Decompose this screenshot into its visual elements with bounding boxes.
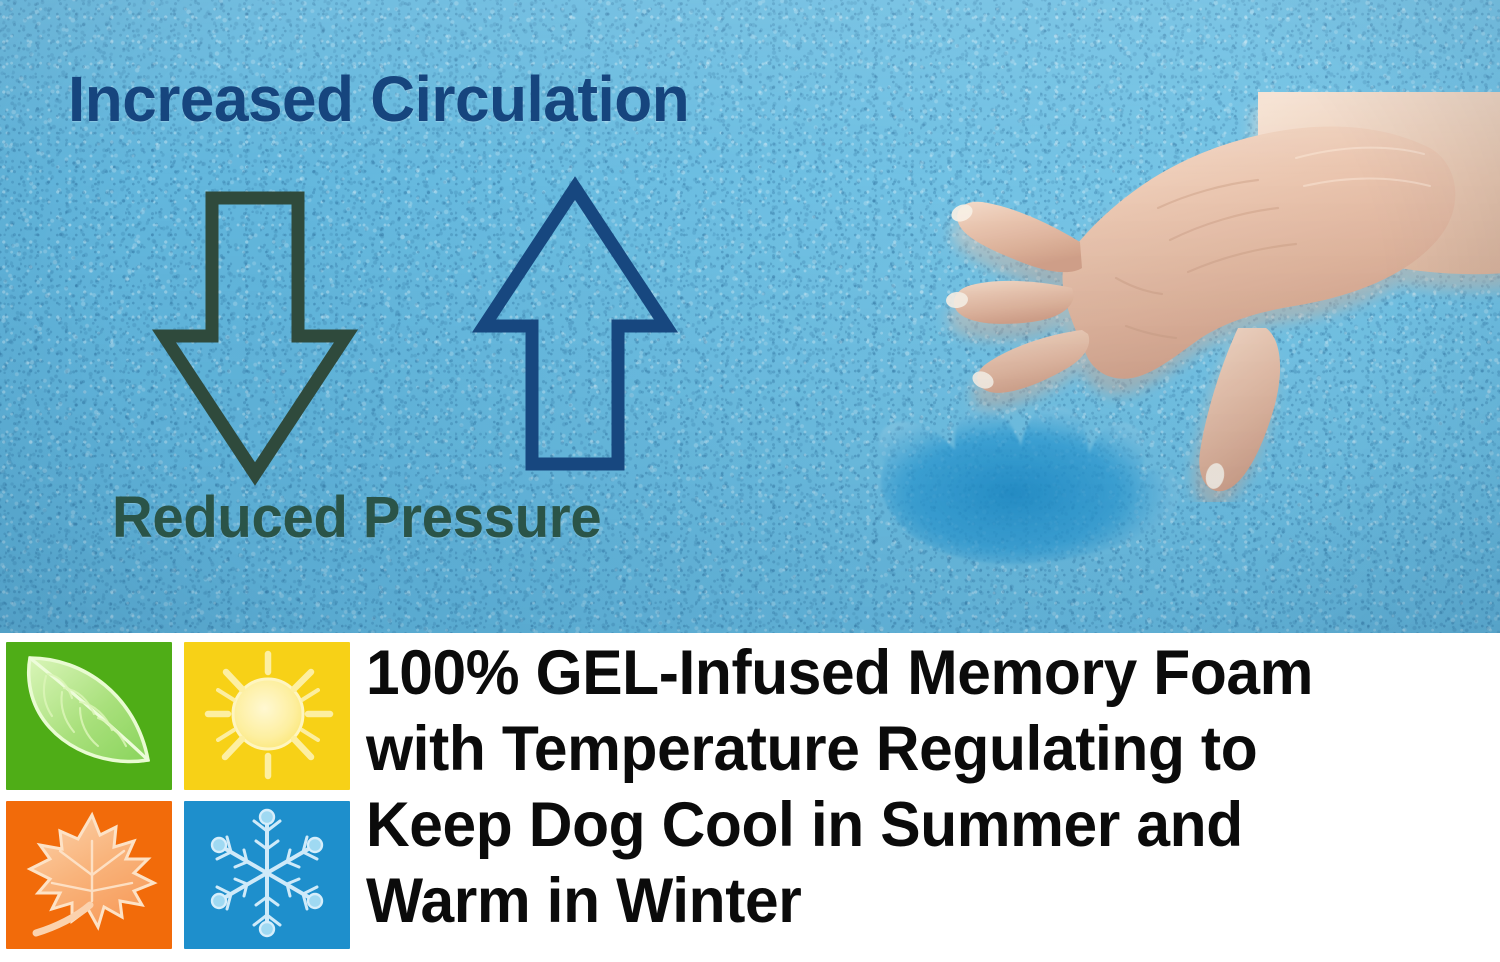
season-tile-summer bbox=[184, 642, 350, 790]
copy-line-1: 100% GEL-Infused Memory Foam bbox=[366, 635, 1451, 711]
season-tile-spring bbox=[6, 642, 172, 790]
feature-callout-band: 100% GEL-Infused Memory Foam with Temper… bbox=[0, 633, 1500, 962]
copy-line-4: Warm in Winter bbox=[366, 863, 1451, 939]
season-tile-autumn bbox=[6, 801, 172, 949]
label-reduced-pressure: Reduced Pressure bbox=[112, 484, 601, 551]
product-infographic-poster: Increased Circulation Reduced Pressure bbox=[0, 0, 1500, 962]
headline-increased-circulation: Increased Circulation bbox=[68, 62, 689, 136]
maple-leaf-icon bbox=[6, 801, 172, 949]
copy-line-3: Keep Dog Cool in Summer and bbox=[366, 787, 1451, 863]
up-arrow-icon bbox=[470, 176, 680, 476]
leaf-icon bbox=[6, 642, 172, 790]
foam-photo-panel: Increased Circulation Reduced Pressure bbox=[0, 0, 1500, 633]
copy-line-2: with Temperature Regulating to bbox=[366, 711, 1451, 787]
down-arrow-icon bbox=[150, 186, 360, 486]
season-tile-winter bbox=[184, 801, 350, 949]
season-tile-grid bbox=[6, 642, 350, 953]
marketing-copy-block: 100% GEL-Infused Memory Foam with Temper… bbox=[366, 635, 1496, 939]
sun-icon bbox=[184, 642, 350, 790]
snowflake-icon bbox=[184, 801, 350, 949]
